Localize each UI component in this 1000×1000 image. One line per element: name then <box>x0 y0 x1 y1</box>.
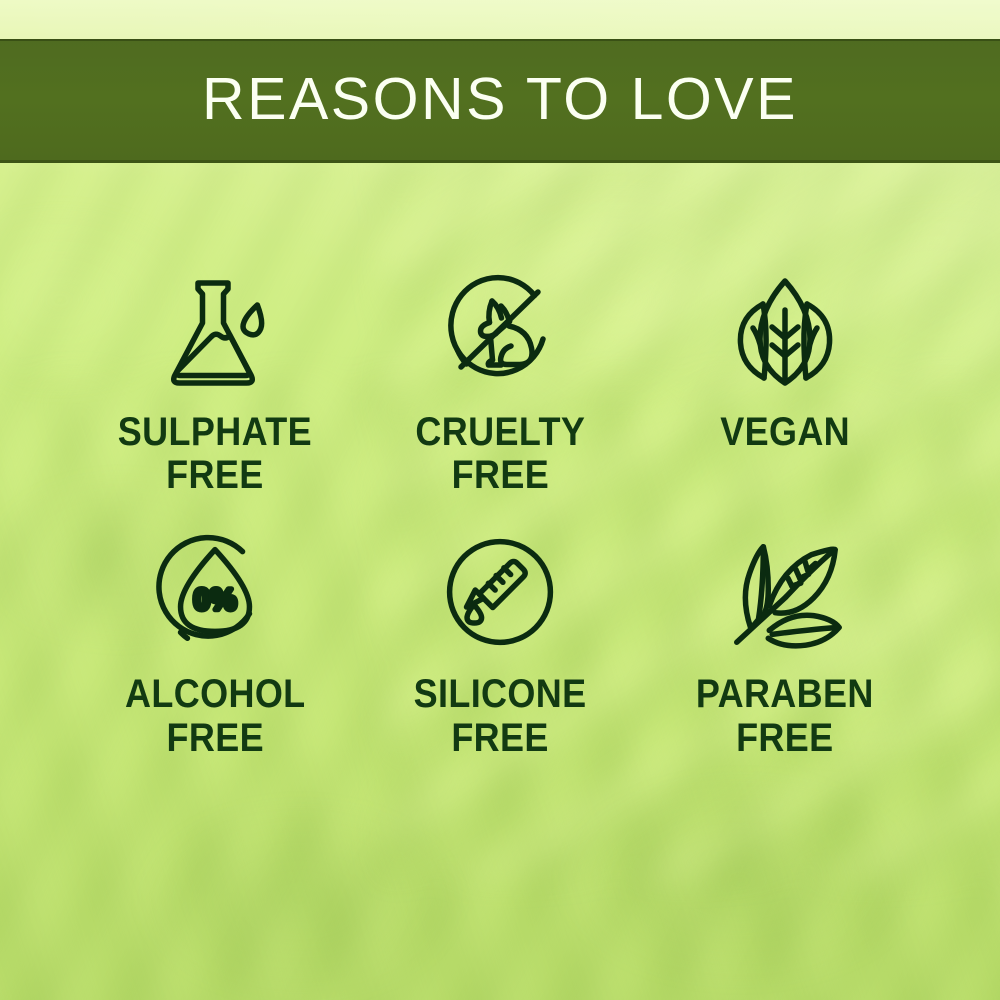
feature-label: ALCOHOL FREE <box>125 673 306 759</box>
no-animal-testing-icon <box>435 255 565 405</box>
page-title: REASONS TO LOVE <box>202 70 798 129</box>
feature-label-line2: FREE <box>696 717 874 760</box>
reasons-to-love-infographic: REASONS TO LOVE SULPHATE <box>0 0 1000 1000</box>
feature-label-line1: VEGAN <box>720 410 850 454</box>
feature-label-line1: ALCOHOL <box>125 672 306 716</box>
feature-label-line2: FREE <box>118 454 312 497</box>
feature-silicone-free: SILICONE FREE <box>365 517 635 759</box>
feature-row-1: SULPHATE FREE <box>80 255 920 497</box>
dropper-circle-icon <box>437 517 563 667</box>
feature-label-line1: PARABEN <box>696 672 874 716</box>
feature-cruelty-free: CRUELTY FREE <box>365 255 635 497</box>
zero-percent-badge: 0% <box>194 584 237 617</box>
feature-label: SULPHATE FREE <box>118 411 312 497</box>
flask-droplet-icon <box>150 255 280 405</box>
feature-paraben-free: PARABEN FREE <box>650 517 920 759</box>
feature-label: VEGAN <box>720 411 850 454</box>
header-banner: REASONS TO LOVE <box>0 39 1000 163</box>
leaf-sprig-icon <box>719 517 851 667</box>
feature-label-line1: SILICONE <box>414 672 587 716</box>
feature-vegan: VEGAN <box>650 255 920 454</box>
feature-label-line2: FREE <box>125 717 306 760</box>
feature-label-line1: SULPHATE <box>118 410 312 454</box>
feature-label-line1: CRUELTY <box>415 410 585 454</box>
feature-label: PARABEN FREE <box>696 673 874 759</box>
feature-sulphate-free: SULPHATE FREE <box>80 255 350 497</box>
feature-label: CRUELTY FREE <box>415 411 585 497</box>
feature-grid: SULPHATE FREE <box>80 255 920 760</box>
zero-percent-droplet-icon: 0% <box>151 517 279 667</box>
feature-alcohol-free: 0% ALCOHOL FREE <box>80 517 350 759</box>
feature-row-2: 0% ALCOHOL FREE <box>80 517 920 759</box>
feature-label-line2: FREE <box>415 454 585 497</box>
feature-label-line2: FREE <box>414 717 587 760</box>
feature-label: SILICONE FREE <box>414 673 587 759</box>
leaves-icon <box>720 255 850 405</box>
